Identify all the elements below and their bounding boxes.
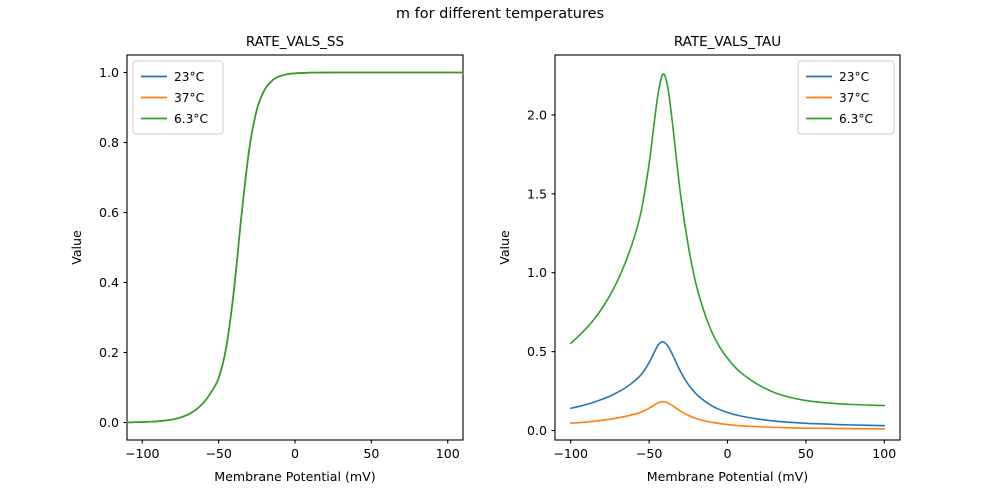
x-tick-label: 0 (291, 446, 299, 461)
subplot-right-canvas: −100−500501000.00.51.01.52.0Membrane Pot… (500, 0, 1000, 500)
x-tick-label: 0 (723, 446, 731, 461)
series-line-1 (571, 342, 885, 426)
x-tick-label: −100 (125, 446, 160, 461)
y-tick-label: 0.0 (99, 415, 119, 430)
subplot-rate-vals-ss: −100−500501000.00.20.40.60.81.0Membrane … (0, 0, 500, 500)
legend-label-2: 37°C (174, 91, 204, 105)
legend-label-2: 37°C (839, 91, 869, 105)
x-tick-label: 100 (872, 446, 896, 461)
legend-label-3: 6.3°C (839, 112, 873, 126)
x-tick-label: −50 (205, 446, 232, 461)
legend: 23°C37°C6.3°C (133, 61, 223, 134)
subplot-rate-vals-tau: −100−500501000.00.51.01.52.0Membrane Pot… (500, 0, 1000, 500)
y-tick-label: 0.2 (99, 345, 119, 360)
legend-label-1: 23°C (174, 70, 204, 84)
y-tick-label: 0.8 (99, 135, 119, 150)
matplotlib-figure: m for different temperatures −100−500501… (0, 0, 1000, 500)
y-tick-label: 0.5 (527, 344, 547, 359)
subplot-left-canvas: −100−500501000.00.20.40.60.81.0Membrane … (0, 0, 500, 500)
y-tick-label: 0.4 (99, 275, 119, 290)
x-tick-label: −100 (553, 446, 588, 461)
x-tick-label: 50 (798, 446, 814, 461)
y-tick-label: 1.0 (99, 65, 119, 80)
subplot-title: RATE_VALS_TAU (674, 34, 781, 50)
y-axis-label: Value (500, 230, 512, 265)
x-tick-label: −50 (636, 446, 663, 461)
x-axis-label: Membrane Potential (mV) (647, 469, 808, 484)
y-tick-label: 1.5 (527, 186, 547, 201)
y-tick-label: 0.6 (99, 205, 119, 220)
x-axis-label: Membrane Potential (mV) (214, 469, 375, 484)
legend: 23°C37°C6.3°C (798, 61, 894, 134)
y-tick-label: 1.0 (527, 265, 547, 280)
subplot-title: RATE_VALS_SS (246, 34, 344, 50)
legend-label-3: 6.3°C (174, 112, 208, 126)
x-tick-label: 50 (363, 446, 379, 461)
y-axis-label: Value (69, 230, 84, 265)
legend-label-1: 23°C (839, 70, 869, 84)
x-tick-label: 100 (436, 446, 460, 461)
y-tick-label: 0.0 (527, 423, 547, 438)
y-tick-label: 2.0 (527, 107, 547, 122)
